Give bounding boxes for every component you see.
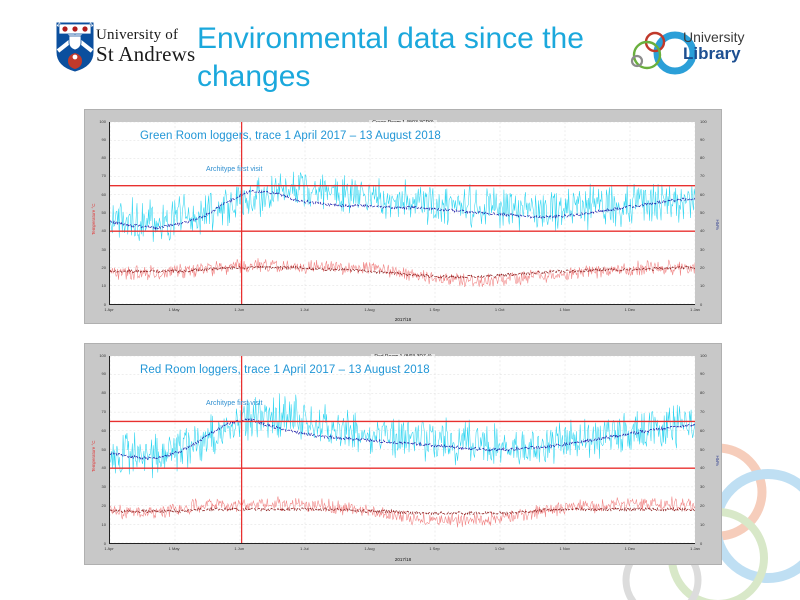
university-wordmark-line1: University of <box>96 28 195 43</box>
red-room-xtick: 1 Aug <box>364 546 374 551</box>
green-room-xtick: 1 Apr <box>104 307 113 312</box>
red-room-y-axis-left: 1009080706050403020100 <box>85 344 109 564</box>
green-room-xtick: 1 Jun <box>234 307 244 312</box>
red-room-xtick: 1 Oct <box>495 546 505 551</box>
green-room-plot-area[interactable]: Green Room loggers, trace 1 April 2017 –… <box>109 122 695 305</box>
green-room-overlay-title: Green Room loggers, trace 1 April 2017 –… <box>140 130 441 142</box>
library-wordmark-line2: Library <box>683 45 744 63</box>
green-room-xtick: 1 Sep <box>429 307 439 312</box>
red-room-ytick: 70 <box>90 410 106 414</box>
red-room-ytick: 80 <box>90 391 106 395</box>
green-room-ylabel-right: %RH <box>715 219 720 230</box>
library-wordmark-line1: University <box>683 30 744 45</box>
green-room-series <box>110 258 695 287</box>
red-room-ytick: 80 <box>700 391 716 395</box>
red-room-series-canvas <box>110 356 695 543</box>
red-room-chart-titlebar: Red Room 1 (8/03.3D7.4) <box>85 345 721 354</box>
green-room-xtick: 1 Jan <box>690 307 700 312</box>
red-room-ytick: 20 <box>700 504 716 508</box>
red-room-marker-label: Architype first visit <box>206 400 262 407</box>
university-wordmark: University of St Andrews <box>96 28 195 65</box>
red-room-xtick: 1 Sep <box>429 546 439 551</box>
slide-header: University of St Andrews Environmental d… <box>0 0 800 100</box>
green-room-ytick: 0 <box>90 303 106 307</box>
green-room-xtick: 1 Aug <box>364 307 374 312</box>
page-title: Environmental data since the changes <box>197 20 597 97</box>
red-room-xlabel: 2017/18 <box>85 557 721 562</box>
red-room-overlay-title: Red Room loggers, trace 1 April 2017 – 1… <box>140 364 430 376</box>
red-room-xtick: 1 Jul <box>300 546 308 551</box>
university-wordmark-line2: St Andrews <box>96 44 195 65</box>
green-room-ylabel-left: Temperature °C <box>91 203 96 235</box>
red-room-xtick: 1 May <box>169 546 180 551</box>
green-room-ytick: 40 <box>700 229 716 233</box>
red-room-ytick: 0 <box>90 542 106 546</box>
st-andrews-crest-icon <box>56 22 94 72</box>
green-room-series-canvas <box>110 122 695 304</box>
green-room-xtick: 1 Jul <box>300 307 308 312</box>
green-room-y-axis-left: 1009080706050403020100 <box>85 110 109 323</box>
red-room-y-axis-right: 1009080706050403020100 <box>697 344 721 564</box>
green-room-ytick: 20 <box>700 266 716 270</box>
green-room-chart[interactable]: Green Room 1 (8/03.3CD0) 100908070605040… <box>84 109 722 324</box>
green-room-chart-titlebar: Green Room 1 (8/03.3CD0) <box>85 111 721 120</box>
green-room-ytick: 80 <box>90 156 106 160</box>
red-room-ytick: 20 <box>90 504 106 508</box>
red-room-series <box>110 394 695 479</box>
red-room-ytick: 60 <box>700 429 716 433</box>
green-room-y-axis-right: 1009080706050403020100 <box>697 110 721 323</box>
green-room-ytick: 50 <box>700 211 716 215</box>
green-room-ytick: 0 <box>700 303 716 307</box>
green-room-ytick: 90 <box>700 138 716 142</box>
red-room-series <box>110 508 695 515</box>
green-room-xlabel: 2017/18 <box>85 317 721 322</box>
red-room-ytick: 40 <box>700 466 716 470</box>
red-room-ytick: 90 <box>90 372 106 376</box>
red-room-chart[interactable]: Red Room 1 (8/03.3D7.4) 1009080706050403… <box>84 343 722 565</box>
green-room-marker-label: Architype first visit <box>206 166 262 173</box>
green-room-ytick: 60 <box>700 193 716 197</box>
green-room-ytick: 30 <box>700 248 716 252</box>
slide: University of St Andrews Environmental d… <box>0 0 800 600</box>
green-room-xtick: 1 Nov <box>560 307 570 312</box>
green-room-ytick: 90 <box>90 138 106 142</box>
red-room-ylabel-left: Temperature °C <box>91 440 96 472</box>
red-room-ytick: 100 <box>700 354 716 358</box>
green-room-ytick: 100 <box>90 120 106 124</box>
red-room-xtick: 1 Apr <box>104 546 113 551</box>
red-room-ytick: 70 <box>700 410 716 414</box>
green-room-xtick: 1 May <box>169 307 180 312</box>
green-room-ytick: 10 <box>700 284 716 288</box>
green-room-ytick: 60 <box>90 193 106 197</box>
red-room-ytick: 60 <box>90 429 106 433</box>
red-room-xtick: 1 Jun <box>234 546 244 551</box>
green-room-ytick: 80 <box>700 156 716 160</box>
red-room-ytick: 10 <box>700 523 716 527</box>
red-room-ytick: 0 <box>700 542 716 546</box>
red-room-xtick: 1 Nov <box>560 546 570 551</box>
green-room-ytick: 70 <box>90 174 106 178</box>
green-room-xtick: 1 Dec <box>625 307 635 312</box>
library-wordmark: University Library <box>683 30 744 63</box>
red-room-ytick: 90 <box>700 372 716 376</box>
green-room-ytick: 30 <box>90 248 106 252</box>
red-room-ytick: 30 <box>90 485 106 489</box>
red-room-ytick: 30 <box>700 485 716 489</box>
red-room-ytick: 100 <box>90 354 106 358</box>
green-room-ytick: 100 <box>700 120 716 124</box>
red-room-ytick: 10 <box>90 523 106 527</box>
green-room-ytick: 10 <box>90 284 106 288</box>
red-room-xtick: 1 Jan <box>690 546 700 551</box>
red-room-ylabel-right: %RH <box>715 455 720 466</box>
green-room-xtick: 1 Oct <box>495 307 505 312</box>
red-room-series <box>110 496 695 527</box>
red-room-xtick: 1 Dec <box>625 546 635 551</box>
red-room-ytick: 50 <box>700 448 716 452</box>
green-room-ytick: 20 <box>90 266 106 270</box>
green-room-ytick: 70 <box>700 174 716 178</box>
red-room-plot-area[interactable]: Red Room loggers, trace 1 April 2017 – 1… <box>109 356 695 544</box>
